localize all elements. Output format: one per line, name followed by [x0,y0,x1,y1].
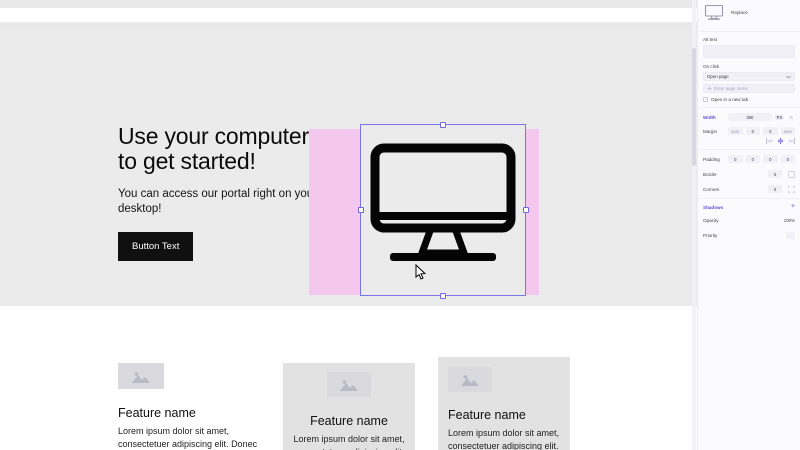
image-placeholder-icon [340,378,358,391]
alt-text-input[interactable] [703,45,795,58]
padding-bottom-input[interactable]: 0 [763,155,778,163]
alt-text-group[interactable]: Alt text [698,37,800,58]
priority-input[interactable] [786,232,795,239]
corners-label: Corners [703,187,725,192]
margin-bottom-input[interactable]: 0 [763,127,778,135]
hero-cta-button[interactable]: Button Text [118,232,193,261]
monitor-thumbnail-glyph [704,4,724,21]
feature-card-title: Feature name [293,414,405,428]
replace-label[interactable]: Replace [731,10,748,15]
align-left-icon[interactable] [766,138,773,144]
section-divider [0,305,697,306]
feature-card-title: Feature name [118,406,268,420]
hero-title: Use your computer to get started! [118,124,318,174]
border-label: Border [703,172,725,177]
resize-handle-top[interactable] [440,122,446,128]
feature-card[interactable]: Feature name Lorem ipsum dolor sit amet,… [118,363,268,450]
padding-right-input[interactable]: 0 [746,155,761,163]
on-click-group[interactable]: On click Open page Enter page name [698,64,800,93]
resize-handle-right[interactable] [523,207,529,213]
design-canvas[interactable]: Use your computer to get started! You ca… [0,0,697,450]
feature-card-body: Lorem ipsum dolor sit amet, consectetuer… [118,425,268,450]
page-name-input[interactable]: Enter page name [703,84,795,93]
width-unit-percent[interactable]: % [787,115,795,120]
new-tab-row[interactable]: Open in a new tab [698,97,800,102]
feature-image-placeholder[interactable] [448,367,492,392]
new-tab-checkbox[interactable] [703,97,708,102]
monitor-thumbnail-icon[interactable] [703,3,725,22]
priority-label: Priority [703,233,717,238]
corners-radius-input[interactable]: 0 [768,185,782,193]
selected-image-element[interactable] [360,124,526,296]
new-tab-label: Open in a new tab [711,97,748,102]
width-label: Width [703,115,725,120]
image-placeholder-icon [461,373,479,386]
width-input[interactable]: 390 [728,113,772,121]
page-name-placeholder-text: Enter page name [714,86,748,91]
hero-title-line1: Use your computer [118,124,318,149]
corner-radius-icon[interactable] [788,186,795,193]
hero-title-line2: to get started! [118,149,318,174]
panel-divider [698,198,800,199]
panel-divider [698,107,800,108]
feature-card-body: Lorem ipsum dolor sit amet, consectetuer… [293,433,405,450]
on-click-select[interactable]: Open page [703,72,795,81]
resize-handle-bottom[interactable] [440,293,446,299]
width-row[interactable]: Width 390 PX % [698,113,800,121]
margin-label: Margin [703,129,725,134]
priority-row[interactable]: Priority [698,232,800,239]
feature-card-title: Feature name [448,408,560,422]
feature-card-body: Lorem ipsum dolor sit amet, consectetuer… [448,427,560,450]
corners-row[interactable]: Corners 0 [698,185,800,193]
add-shadow-button[interactable]: + [791,204,795,210]
feature-card[interactable]: Feature name Lorem ipsum dolor sit amet,… [438,357,570,450]
feature-image-placeholder[interactable] [327,372,371,397]
feature-card[interactable]: Feature name Lorem ipsum dolor sit amet,… [283,363,415,450]
chevron-down-icon [786,75,791,79]
hero-section[interactable]: Use your computer to get started! You ca… [0,28,697,305]
alt-text-label: Alt text [703,37,795,42]
on-click-label: On click [703,64,795,69]
align-right-icon[interactable] [788,138,795,144]
site-header-bar[interactable] [0,8,697,22]
margin-left-input[interactable]: auto [781,127,796,135]
panel-divider [698,149,800,150]
properties-panel[interactable]: Replace Alt text On click Open page Ente… [697,0,800,450]
padding-left-input[interactable]: 0 [781,155,796,163]
image-replace-row[interactable]: Replace [698,0,800,26]
border-row[interactable]: Border 0 [698,170,800,178]
padding-top-input[interactable]: 0 [728,155,743,163]
panel-scrollbar-thumb[interactable] [692,48,696,166]
image-placeholder-icon [132,370,150,383]
margin-top-input[interactable]: auto [728,127,743,135]
width-unit-px[interactable]: PX [775,115,785,120]
resize-handle-left[interactable] [358,207,364,213]
canvas-top-strip [0,0,697,8]
hero-text-block[interactable]: Use your computer to get started! You ca… [118,124,318,261]
border-width-input[interactable]: 0 [768,170,782,178]
margin-row[interactable]: Margin auto 0 0 auto [698,127,800,135]
features-section[interactable]: Feature name Lorem ipsum dolor sit amet,… [0,305,697,450]
opacity-label: Opacity [703,218,719,223]
monitor-illustration [361,125,525,295]
padding-row[interactable]: Padding 0 0 0 0 [698,155,800,163]
align-controls[interactable] [698,138,800,144]
border-style-icon[interactable] [788,171,795,178]
on-click-selected-value: Open page [707,74,729,79]
hero-subtitle: You can access our portal right on your … [118,187,318,217]
panel-divider [698,31,800,32]
shadows-label: Shadows [703,205,723,210]
opacity-value[interactable]: 100% [784,218,795,223]
plus-small-icon [707,86,712,91]
align-center-icon[interactable] [777,138,784,144]
feature-image-placeholder[interactable] [118,363,164,389]
padding-label: Padding [703,157,725,162]
margin-right-input[interactable]: 0 [746,127,761,135]
monitor-icon [370,143,516,277]
